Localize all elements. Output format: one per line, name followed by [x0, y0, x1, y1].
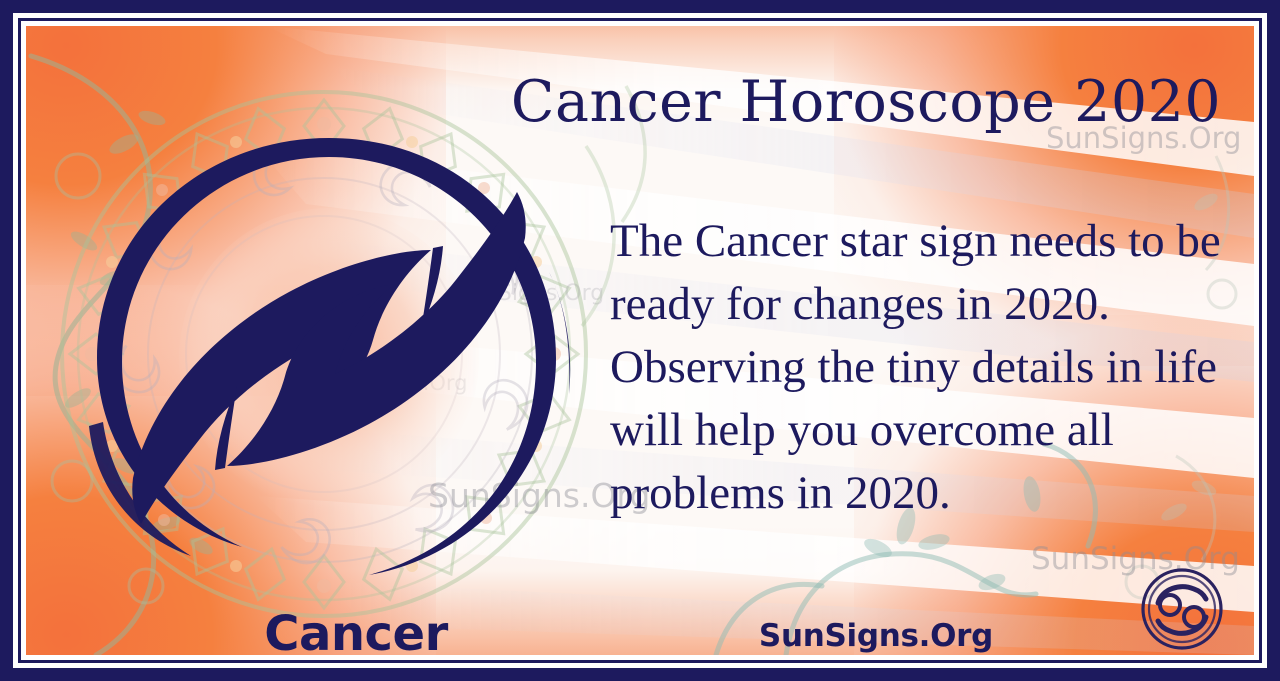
cancer-glyph-badge — [1136, 563, 1228, 655]
cancer-crab-emblem — [81, 126, 581, 596]
horoscope-body-text: The Cancer star sign needs to be ready f… — [610, 210, 1230, 525]
page-title: Cancer Horoscope 2020 — [466, 70, 1254, 134]
horoscope-poster: SunSigns.Org SunSigns.Org SunSigns.Org S… — [0, 0, 1280, 681]
poster-canvas: SunSigns.Org SunSigns.Org SunSigns.Org S… — [26, 26, 1254, 655]
footer-brand-label: SunSigns.Org — [676, 618, 1076, 654]
zodiac-sign-label: Cancer — [206, 606, 506, 655]
